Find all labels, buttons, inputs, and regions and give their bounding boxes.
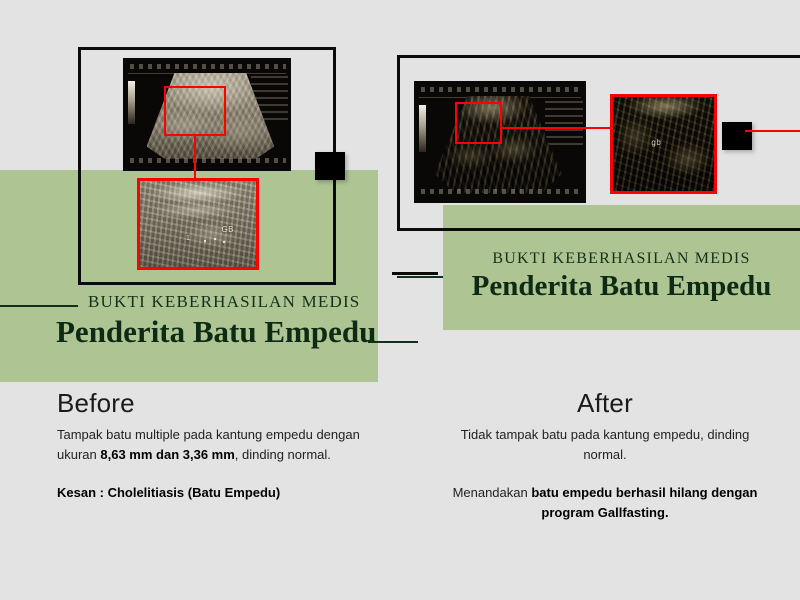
before-body: Tampak batu multiple pada kantung empedu… [57,425,365,465]
before-column: Before Tampak batu multiple pada kantung… [57,388,365,503]
kicker-right: BUKTI KEBERHASILAN MEDIS [443,250,800,268]
divider-top-middle [392,272,438,275]
scan-header-text [130,64,286,69]
before-conclusion: Kesan : Cholelitiasis (Batu Empedu) [57,485,280,500]
after-body: Tidak tampak batu pada kantung empedu, d… [440,425,770,465]
scan-greyscale-bar [128,81,135,124]
after-note: Menandakan batu empedu berhasil hilang d… [440,483,770,523]
headline-group-right: BUKTI KEBERHASILAN MEDIS Penderita Batu … [443,250,800,303]
black-square-left [315,152,345,180]
zoom-inset-after: gb [610,94,717,194]
leader-line-after [502,127,612,129]
poster-canvas: GB 1 gb BUKTI KEBERHASILAN MEDIS Penderi… [0,0,800,600]
black-square-right [722,122,752,150]
scan-greyscale-bar [419,105,426,151]
inset-organ-label: GB [221,225,234,234]
after-column: After Tidak tampak batu pada kantung emp… [440,388,770,524]
scan-footer-text [130,158,286,163]
scan-side-readout [545,101,583,150]
roi-box-before [164,86,226,136]
leader-line-after-tail [745,130,800,132]
headline-left: Penderita Batu Empedu [56,314,378,350]
before-body-post: , dinding normal. [235,447,331,462]
roi-box-after [455,102,502,144]
scan-header-text [421,87,581,92]
caliper-markers-icon [202,236,228,246]
leader-line-before [194,136,196,179]
scan-footer-text [421,189,581,194]
headline-group-left: BUKTI KEBERHASILAN MEDIS Penderita Batu … [0,292,378,350]
headline-right: Penderita Batu Empedu [443,270,800,303]
before-conclusion-line: Kesan : Cholelitiasis (Batu Empedu) [57,483,365,503]
after-note-pre: Menandakan [453,485,532,500]
before-title: Before [57,388,365,419]
inset-marker-label: 1 [186,235,190,242]
inset-organ-label: gb [651,138,661,147]
kicker-left: BUKTI KEBERHASILAN MEDIS [88,292,378,312]
zoom-inset-before: GB 1 [137,178,259,270]
after-note-bold: batu empedu berhasil hilang dengan progr… [531,485,757,520]
after-title: After [440,388,770,419]
before-body-bold: 8,63 mm dan 3,36 mm [100,447,234,462]
divider-right-headline [397,276,443,278]
